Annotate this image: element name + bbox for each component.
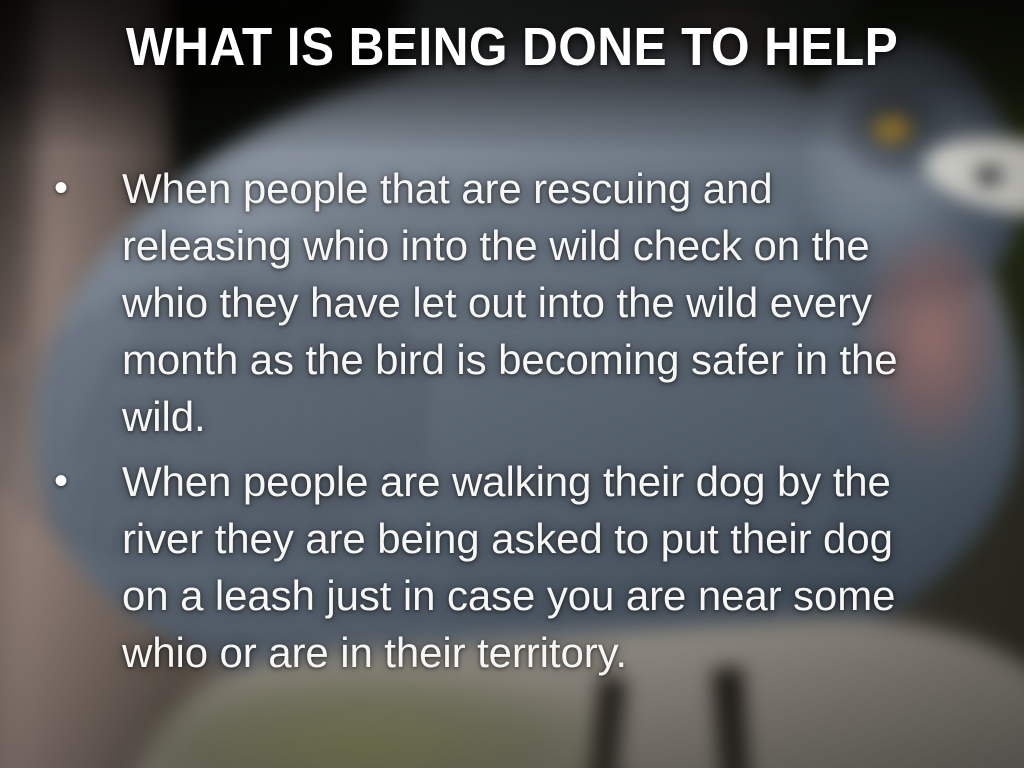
bullet-point-icon: •: [46, 453, 122, 510]
slide-title: WHAT IS BEING DONE TO HELP: [41, 18, 983, 76]
bullet-text: When people that are rescuing and releas…: [122, 160, 906, 445]
bullet-text: When people are walking their dog by the…: [122, 453, 906, 681]
presentation-slide: WHAT IS BEING DONE TO HELP • When people…: [0, 0, 1024, 768]
list-item: • When people that are rescuing and rele…: [46, 160, 906, 445]
bullet-point-icon: •: [46, 160, 122, 217]
slide-content: WHAT IS BEING DONE TO HELP • When people…: [0, 0, 1024, 768]
list-item: • When people are walking their dog by t…: [46, 453, 906, 681]
bullet-list: • When people that are rescuing and rele…: [46, 160, 906, 689]
